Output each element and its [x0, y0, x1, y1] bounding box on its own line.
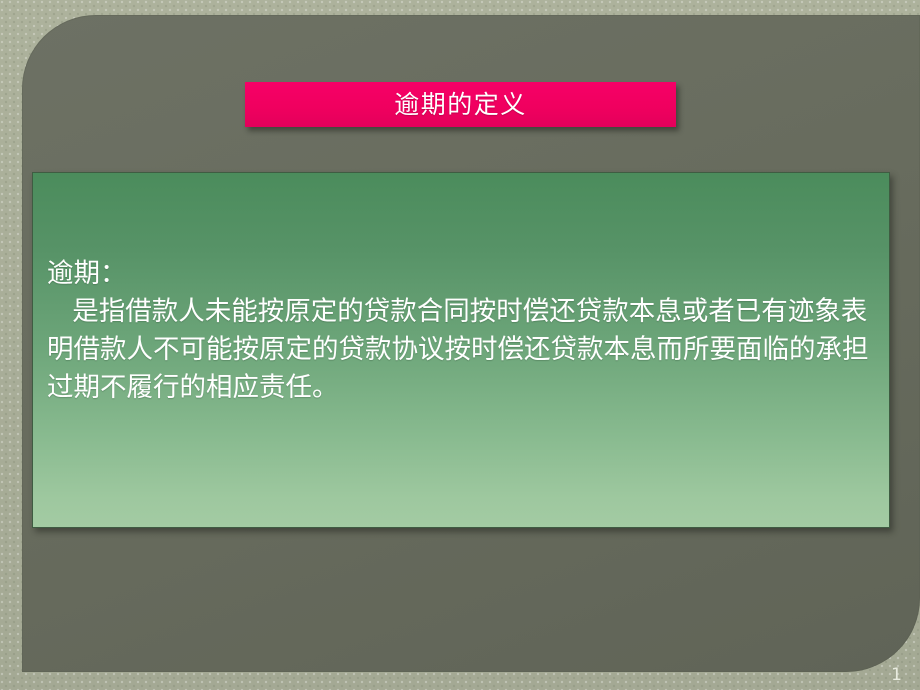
slide-title-banner: 逾期的定义: [245, 82, 676, 127]
slide-number: 1: [891, 667, 902, 684]
page-title: 逾期的定义: [394, 92, 527, 117]
body-paragraph: 逾期： 是指借款人未能按原定的贷款合同按时偿还贷款本息或者已有迹象表明借款人不可…: [47, 255, 882, 407]
content-panel: 逾期： 是指借款人未能按原定的贷款合同按时偿还贷款本息或者已有迹象表明借款人不可…: [32, 172, 890, 528]
slide-canvas: 逾期的定义 逾期： 是指借款人未能按原定的贷款合同按时偿还贷款本息或者已有迹象表…: [0, 0, 920, 690]
